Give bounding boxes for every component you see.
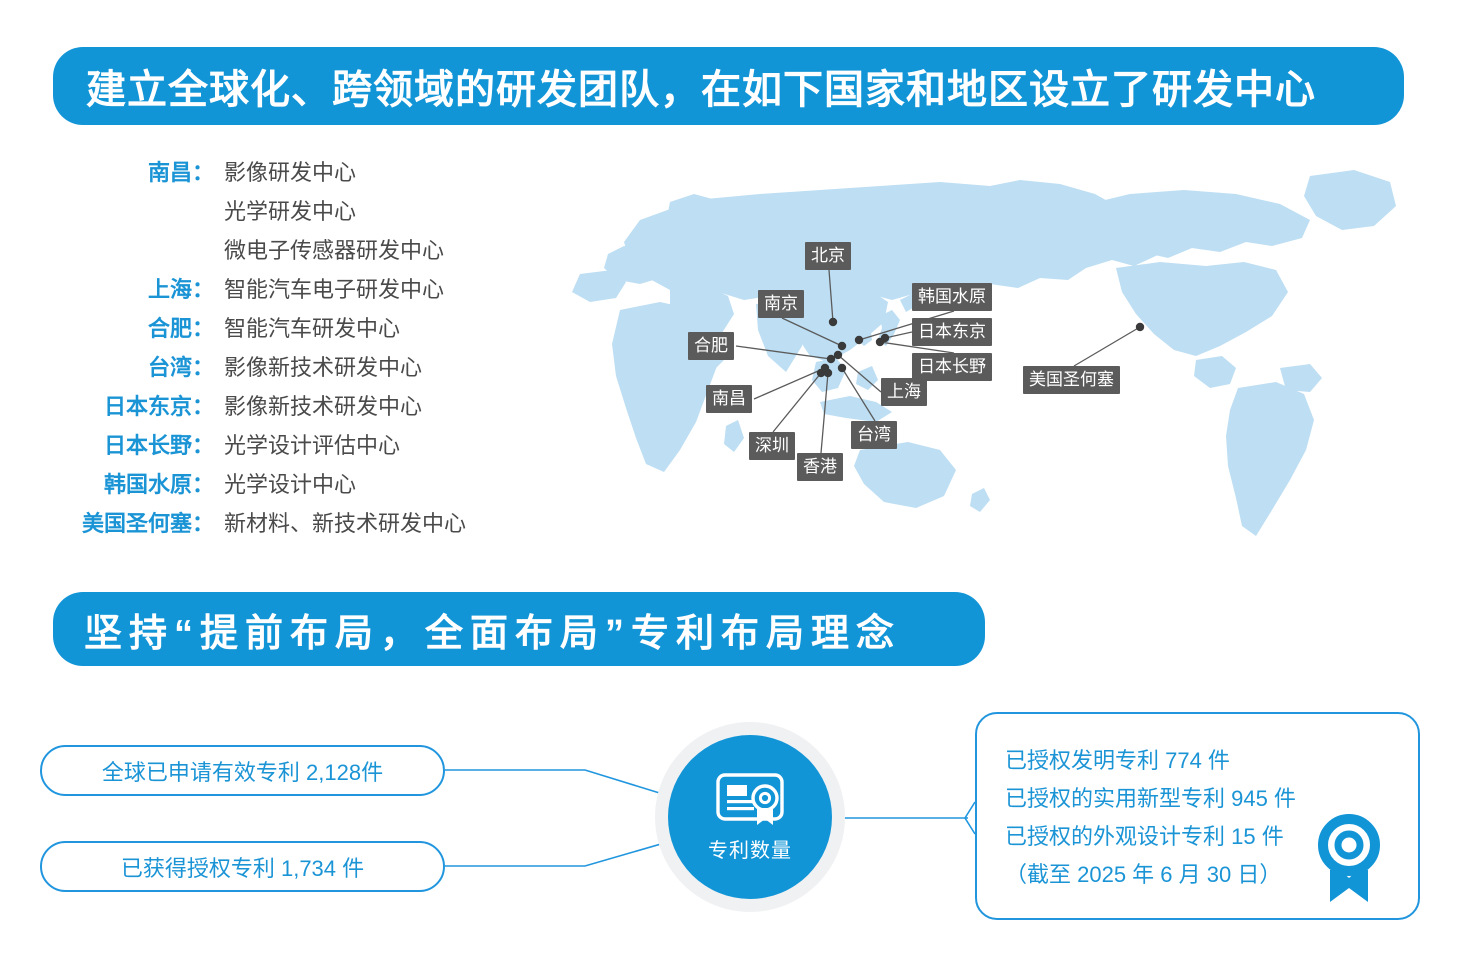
map-dot-南京 xyxy=(838,342,846,350)
certificate-icon xyxy=(715,772,785,828)
map-label-美国圣何塞[interactable]: 美国圣何塞 xyxy=(1023,366,1120,394)
patent-stat-pill-granted-text: 已获得授权专利 1,734 件 xyxy=(121,851,364,883)
map-label-台湾[interactable]: 台湾 xyxy=(851,421,897,449)
center-name: 光学设计评估中心 xyxy=(224,428,400,460)
center-name: 智能汽车电子研发中心 xyxy=(224,272,444,304)
patent-detail-design: 已授权的外观设计专利 15 件 xyxy=(1005,818,1296,856)
patent-stat-pill-applied-text: 全球已申请有效专利 2,128件 xyxy=(102,755,383,787)
map-dot-韩国水原 xyxy=(855,336,863,344)
patent-details-lines: 已授权发明专利 774 件 已授权的实用新型专利 945 件 已授权的外观设计专… xyxy=(1005,742,1296,894)
list-item: 台湾： 影像新技术研发中心 xyxy=(46,350,516,383)
center-location: 日本长野： xyxy=(46,428,214,460)
section-banner-rd-centers: 建立全球化、跨领域的研发团队，在如下国家和地区设立了研发中心 xyxy=(53,47,1404,125)
center-location: 台湾： xyxy=(46,350,214,382)
map-label-南京[interactable]: 南京 xyxy=(758,290,804,318)
hub-label-text: 专利数量 xyxy=(708,834,792,863)
patent-detail-invention: 已授权发明专利 774 件 xyxy=(1005,742,1296,780)
map-label-日本东京[interactable]: 日本东京 xyxy=(912,318,992,346)
center-name: 光学研发中心 xyxy=(224,194,356,226)
list-item: 日本长野： 光学设计评估中心 xyxy=(46,428,516,461)
patent-detail-utility-model: 已授权的实用新型专利 945 件 xyxy=(1005,780,1296,818)
banner-title-rd-centers: 建立全球化、跨领域的研发团队，在如下国家和地区设立了研发中心 xyxy=(86,57,1316,115)
center-name: 影像研发中心 xyxy=(224,155,356,187)
map-label-韩国水原[interactable]: 韩国水原 xyxy=(912,283,992,311)
infographic-page: 建立全球化、跨领域的研发团队，在如下国家和地区设立了研发中心 南昌： 影像研发中… xyxy=(0,0,1459,973)
center-name: 微电子传感器研发中心 xyxy=(224,233,444,265)
map-label-深圳[interactable]: 深圳 xyxy=(749,432,795,460)
map-dot-日本长野 xyxy=(876,338,884,346)
list-item: 上海： 智能汽车电子研发中心 xyxy=(46,272,516,305)
map-leader-美国圣何塞 xyxy=(1074,327,1140,366)
map-dot-香港 xyxy=(824,369,832,377)
center-location: 韩国水原： xyxy=(46,467,214,499)
center-name: 新材料、新技术研发中心 xyxy=(224,506,466,538)
patent-stat-pill-granted[interactable]: 已获得授权专利 1,734 件 xyxy=(40,841,445,892)
map-dot-美国圣何塞 xyxy=(1136,323,1144,331)
list-item: 南昌： 影像研发中心 xyxy=(46,155,516,188)
map-label-南昌[interactable]: 南昌 xyxy=(706,385,752,413)
map-leader-南昌 xyxy=(754,368,825,399)
list-item: 韩国水原： 光学设计中心 xyxy=(46,467,516,500)
map-dot-上海 xyxy=(834,351,842,359)
center-name: 影像新技术研发中心 xyxy=(224,389,422,421)
hub-disc: 专利数量 xyxy=(668,735,832,899)
center-location: 合肥： xyxy=(46,311,214,343)
list-item: 美国圣何塞： 新材料、新技术研发中心 xyxy=(46,506,516,539)
map-dot-北京 xyxy=(829,318,837,326)
center-name: 光学设计中心 xyxy=(224,467,356,499)
patent-details-panel: 已授权发明专利 774 件 已授权的实用新型专利 945 件 已授权的外观设计专… xyxy=(975,712,1420,920)
rd-centers-list: 南昌： 影像研发中心 光学研发中心 微电子传感器研发中心 上海： 智能汽车电子研… xyxy=(46,155,516,545)
center-location: 南昌： xyxy=(46,155,214,187)
map-leader-深圳 xyxy=(773,373,821,432)
center-location: 日本东京： xyxy=(46,389,214,421)
center-name: 影像新技术研发中心 xyxy=(224,350,422,382)
map-label-日本长野[interactable]: 日本长野 xyxy=(912,353,992,381)
banner-title-patent-strategy: 坚持“提前布局，全面布局”专利布局理念 xyxy=(84,602,901,657)
patent-diagram: 全球已申请有效专利 2,128件 已获得授权专利 1,734 件 专利数量 xyxy=(0,690,1459,950)
map-label-北京[interactable]: 北京 xyxy=(805,242,851,270)
patent-count-hub[interactable]: 专利数量 xyxy=(655,722,845,912)
map-label-香港[interactable]: 香港 xyxy=(797,453,843,481)
map-label-合肥[interactable]: 合肥 xyxy=(688,332,734,360)
center-location: 上海： xyxy=(46,272,214,304)
award-medal-icon xyxy=(1308,812,1390,904)
list-item: 合肥： 智能汽车研发中心 xyxy=(46,311,516,344)
center-location: 美国圣何塞： xyxy=(46,506,214,538)
world-map: 北京南京合肥南昌深圳香港台湾上海韩国水原日本东京日本长野美国圣何塞 xyxy=(520,150,1450,580)
list-item: 微电子传感器研发中心 xyxy=(46,233,516,266)
list-item: 光学研发中心 xyxy=(46,194,516,227)
map-label-上海[interactable]: 上海 xyxy=(881,378,927,406)
section-banner-patent-strategy: 坚持“提前布局，全面布局”专利布局理念 xyxy=(53,592,985,666)
list-item: 日本东京： 影像新技术研发中心 xyxy=(46,389,516,422)
center-name: 智能汽车研发中心 xyxy=(224,311,400,343)
patent-stat-pill-applied[interactable]: 全球已申请有效专利 2,128件 xyxy=(40,745,445,796)
map-dot-台湾 xyxy=(838,364,846,372)
patent-detail-asof-date: （截至 2025 年 6 月 30 日） xyxy=(1005,856,1296,894)
